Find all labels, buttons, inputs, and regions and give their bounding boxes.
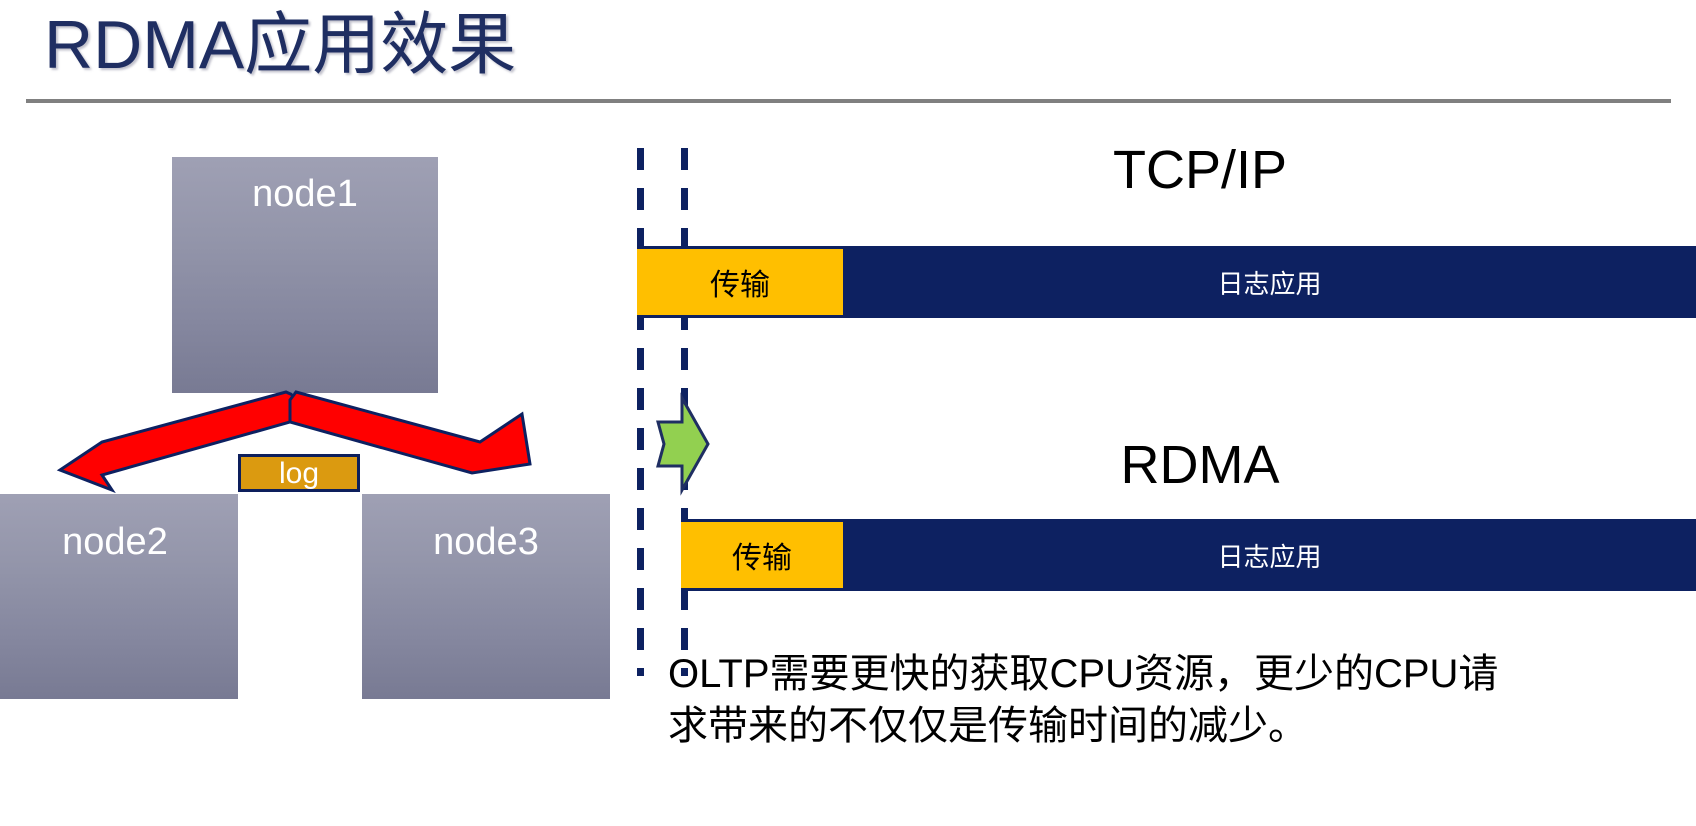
tcpip-transport-segment: 传输: [637, 249, 843, 315]
log-label: log: [279, 457, 319, 490]
tcpip-application-segment: 日志应用: [843, 249, 1696, 315]
log-box: log: [238, 454, 360, 492]
node-box-node2: node2: [0, 494, 238, 699]
node2-label: node2: [62, 521, 168, 563]
node-box-node1: node1: [172, 157, 438, 393]
rdma-transport-segment: 传输: [681, 522, 843, 588]
title-divider: [26, 99, 1671, 103]
rdma-timing-bar: 传输 日志应用: [681, 519, 1696, 591]
caption-line-1: OLTP需要更快的获取CPU资源，更少的CPU请: [668, 648, 1678, 700]
caption-text: OLTP需要更快的获取CPU资源，更少的CPU请 求带来的不仅仅是传输时间的减少…: [668, 648, 1678, 752]
time-saving-arrow-icon: [630, 388, 712, 500]
caption-line-2: 求带来的不仅仅是传输时间的减少。: [668, 700, 1678, 752]
node-box-node3: node3: [362, 494, 610, 699]
node1-label: node1: [252, 173, 358, 215]
rdma-title: RDMA: [760, 435, 1640, 495]
tcpip-title: TCP/IP: [760, 140, 1640, 200]
rdma-application-segment: 日志应用: [843, 522, 1696, 588]
page-title: RDMA应用效果: [44, 2, 516, 88]
tcpip-timing-bar: 传输 日志应用: [637, 246, 1696, 318]
node3-label: node3: [433, 521, 539, 563]
slide-canvas: RDMA应用效果 node1 node2 node3 log TCP/IP 传输…: [0, 0, 1696, 826]
